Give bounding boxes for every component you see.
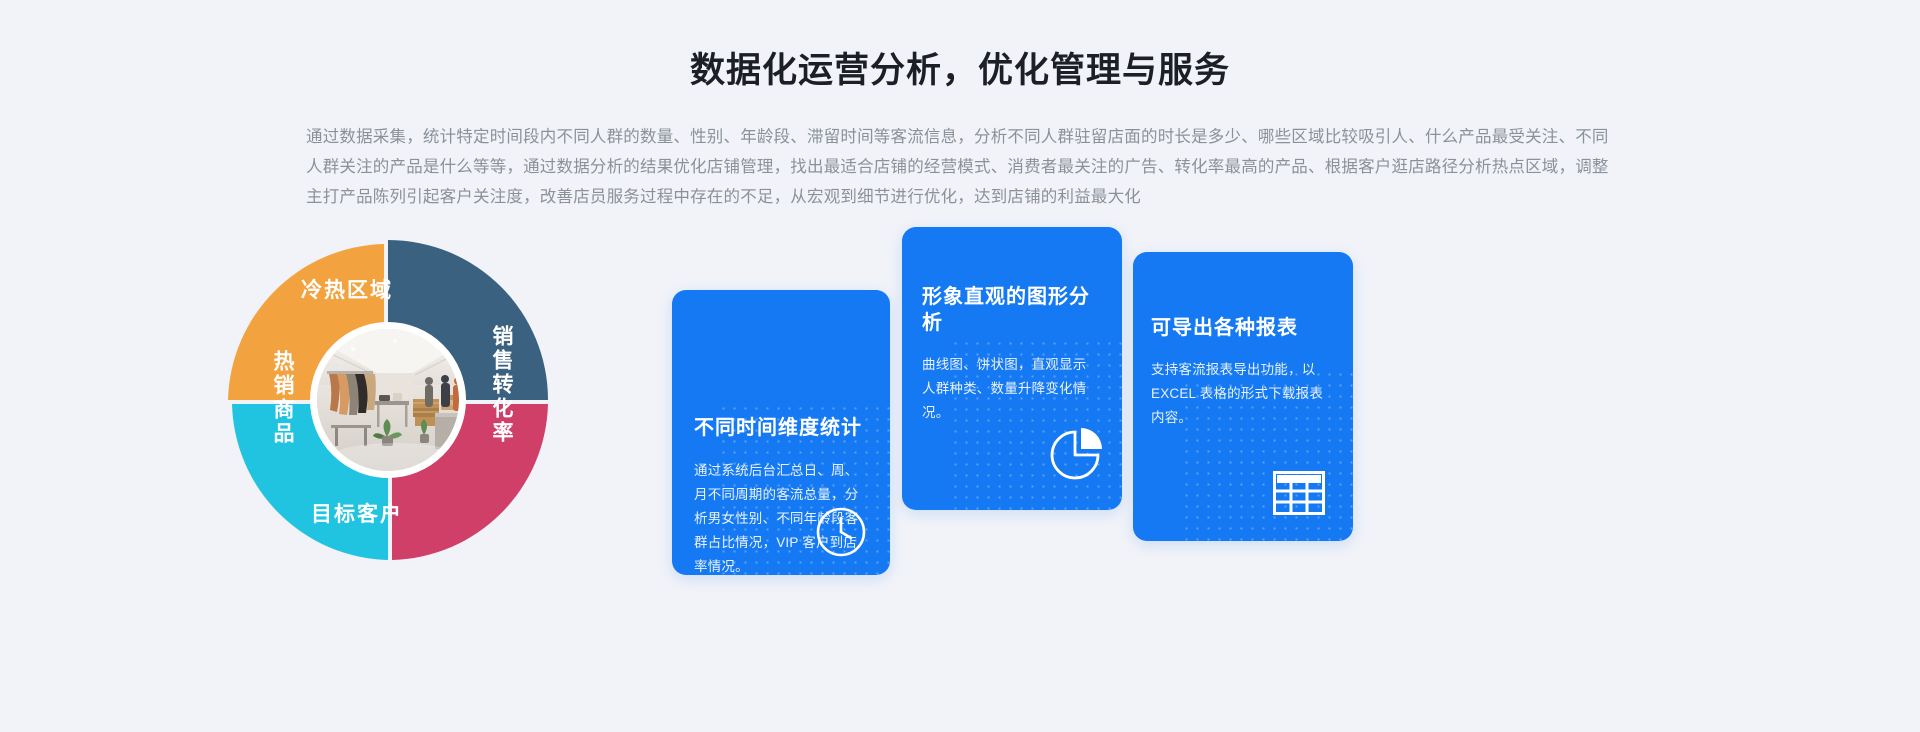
donut-label-conversion-rate: 销售转化率 [486,325,516,445]
table-grid-icon [1273,471,1325,515]
feature-card-export-reports[interactable]: 可导出各种报表 支持客流报表导出功能，以 EXCEL 表格的形式下载报表内容。 [1133,252,1353,541]
page-title: 数据化运营分析，优化管理与服务 [0,48,1920,94]
card-title: 可导出各种报表 [1151,315,1341,341]
card-title: 形象直观的图形分析 [922,284,1108,336]
store-photo-illustration [317,329,459,471]
page-root: 数据化运营分析，优化管理与服务 通过数据采集，统计特定时间段内不同人群的数量、性… [0,0,1920,732]
intro-paragraph: 通过数据采集，统计特定时间段内不同人群的数量、性别、年龄段、滞留时间等客流信息，… [250,122,1670,212]
header: 数据化运营分析，优化管理与服务 通过数据采集，统计特定时间段内不同人群的数量、性… [0,0,1920,212]
pie-chart-icon [1048,426,1106,484]
donut-chart: 冷热区域 销售转化率 目标客户 热销商品 [218,230,558,570]
card-title: 不同时间维度统计 [694,415,874,441]
clock-icon [814,505,868,559]
donut-label-hot-products: 热销商品 [267,350,297,446]
donut-label-target-customer: 目标客户 [311,498,403,528]
content-area: 冷热区域 销售转化率 目标客户 热销商品 不同时间维度统计 通过系统后台汇总日、… [0,222,1920,732]
donut-label-hot-cold-zone: 冷热区域 [301,274,393,304]
feature-card-time-dimension[interactable]: 不同时间维度统计 通过系统后台汇总日、周、月不同周期的客流总量，分析男女性别、不… [672,290,890,575]
store-photo-image [317,329,459,471]
card-description: 曲线图、饼状图，直观显示人群种类、数量升降变化情况。 [922,353,1098,425]
center-store-photo [310,322,466,478]
card-description: 支持客流报表导出功能，以 EXCEL 表格的形式下载报表内容。 [1151,358,1327,430]
feature-card-graphic-analysis[interactable]: 形象直观的图形分析 曲线图、饼状图，直观显示人群种类、数量升降变化情况。 [902,227,1122,510]
